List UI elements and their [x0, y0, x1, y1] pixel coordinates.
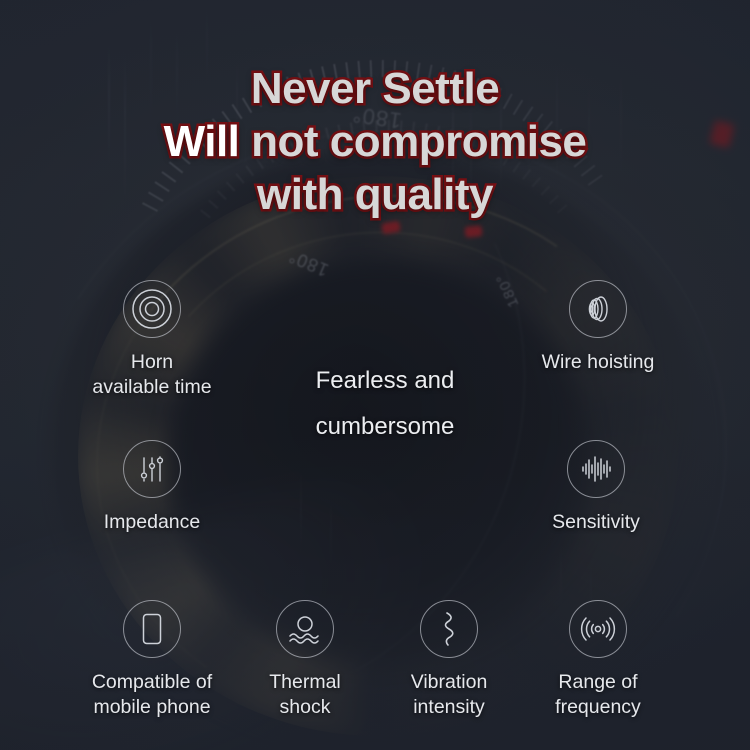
gauge-red-marker	[464, 225, 482, 238]
feature-label: Sensitivity	[506, 510, 686, 535]
audio-waveform-icon	[567, 440, 625, 498]
feature-horn-available-time[interactable]: Horn available time	[52, 280, 252, 400]
feature-label: Compatible of mobile phone	[66, 670, 238, 720]
feature-compatible-mobile-phone[interactable]: Compatible of mobile phone	[66, 600, 238, 720]
feature-vibration-intensity[interactable]: Vibration intensity	[382, 600, 516, 720]
feature-label: Wire hoisting	[498, 350, 698, 375]
headline: Never Settle Will not compromise with qu…	[0, 62, 750, 221]
headline-line-2-highlight: Will	[164, 117, 240, 166]
headline-line-3: with quality	[257, 170, 493, 219]
feature-sensitivity[interactable]: Sensitivity	[506, 440, 686, 535]
feature-wire-hoisting[interactable]: Wire hoisting	[498, 280, 698, 375]
feature-label: Impedance	[62, 510, 242, 535]
mobile-phone-icon	[123, 600, 181, 658]
gauge-degree-label: 180°	[286, 245, 332, 280]
sun-over-waves-icon	[276, 600, 334, 658]
feature-thermal-shock[interactable]: Thermal shock	[240, 600, 370, 720]
radio-waves-icon	[569, 600, 627, 658]
wire-coil-icon	[569, 280, 627, 338]
center-tagline: Fearless and cumbersome	[270, 358, 500, 450]
feature-label: Horn available time	[52, 350, 252, 400]
feature-range-of-frequency[interactable]: Range of frequency	[527, 600, 669, 720]
promo-banner: 180° 180° 180° Never Settle Will not com…	[0, 0, 750, 750]
concentric-circles-icon	[123, 280, 181, 338]
headline-line-2-rest: not compromise	[239, 117, 586, 166]
equalizer-sliders-icon	[123, 440, 181, 498]
feature-label: Range of frequency	[527, 670, 669, 720]
headline-line-1: Never Settle	[251, 64, 499, 113]
feature-label: Vibration intensity	[382, 670, 516, 720]
feature-label: Thermal shock	[240, 670, 370, 720]
feature-impedance[interactable]: Impedance	[62, 440, 242, 535]
zigzag-vibration-icon	[420, 600, 478, 658]
gauge-red-marker	[381, 221, 401, 235]
